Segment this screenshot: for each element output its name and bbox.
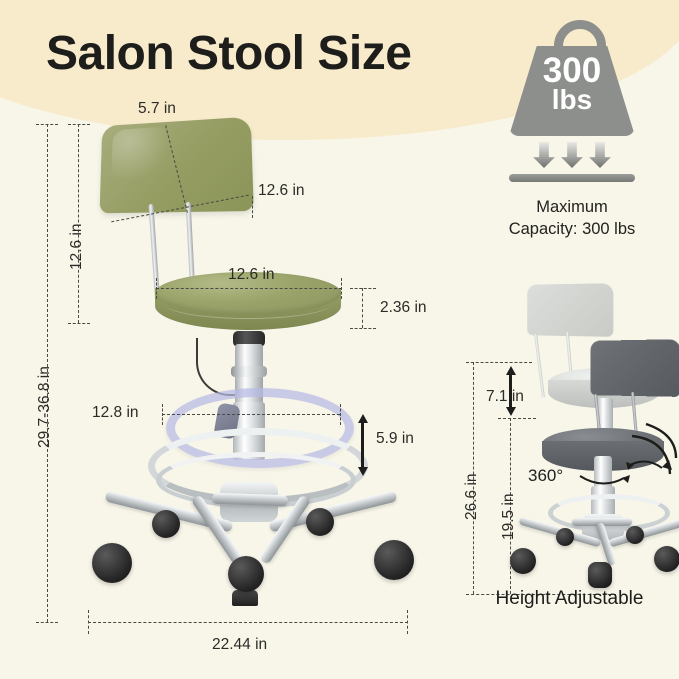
tick-base-right <box>407 610 408 634</box>
gray-caster-right <box>654 546 679 572</box>
gray-backrest-raised <box>527 283 613 337</box>
arrow-footring-height <box>357 414 368 476</box>
label-seat-diameter: 12.6 in <box>228 266 275 284</box>
gas-cylinder-collar <box>231 366 267 377</box>
tick-overall-bottom <box>36 622 58 623</box>
label-backrest-width: 12.6 in <box>258 182 305 200</box>
caster-back-right <box>306 508 334 536</box>
weight-caption-line1: Maximum <box>483 196 661 218</box>
tick-seat-right <box>341 278 342 299</box>
gray-backrest-lowered <box>590 339 679 397</box>
tick-seat-left <box>156 278 157 299</box>
label-gray-adjust-range: 7.1 in <box>486 388 524 406</box>
tick-thickness-bottom <box>350 328 376 329</box>
tick-thickness-top <box>350 288 376 289</box>
label-base-width: 22.44 in <box>212 636 267 654</box>
label-backrest-height: 12.6 in <box>68 223 86 270</box>
label-gray-total-height: 26.6 in <box>463 473 481 520</box>
caster-left <box>92 543 132 583</box>
gray-post-raised-left <box>534 334 545 398</box>
dimline-seat-diameter <box>156 288 342 289</box>
dimline-footring-diameter <box>162 414 340 415</box>
tick-backrest-width-end <box>252 196 253 218</box>
label-footring-height: 5.9 in <box>376 430 414 448</box>
rotation-label: 360° <box>528 466 563 486</box>
height-adjustable-caption: Height Adjustable <box>460 588 679 610</box>
ground-bar <box>509 174 635 182</box>
weight-icon-text: 300 lbs <box>497 54 647 114</box>
caster-front <box>228 556 264 592</box>
down-arrow-icon-3 <box>589 142 611 168</box>
seat-stitching <box>164 288 332 319</box>
tick-overall-top <box>36 124 58 125</box>
label-backrest-top-width: 5.7 in <box>138 100 176 118</box>
tick-footring-right <box>340 404 341 425</box>
weight-caption-line2: Capacity: 300 lbs <box>483 218 661 240</box>
label-seat-thickness: 2.36 in <box>380 299 427 317</box>
dimline-seat-thickness <box>362 288 363 328</box>
tick-gray-lowest-top <box>498 418 536 419</box>
weight-capacity-badge: 300 lbs Maximum Capacity: 300 lbs <box>497 18 647 228</box>
gray-caster-back-right <box>626 526 644 544</box>
tick-gray-total-top <box>466 362 532 363</box>
label-overall-height: 29.7-36.8 in <box>36 366 54 448</box>
tick-footring-left <box>162 404 163 425</box>
rotation-arrows-icon <box>576 418 679 508</box>
caster-front-center <box>232 590 258 606</box>
dimline-base-width <box>88 622 408 623</box>
down-arrow-icon-1 <box>533 142 555 168</box>
weight-unit: lbs <box>497 87 647 114</box>
label-footring-diameter: 12.8 in <box>92 404 139 422</box>
tick-backrest-top <box>68 124 90 125</box>
gray-caster-left <box>510 548 536 574</box>
gray-caster-back-left <box>556 528 574 546</box>
weight-value: 300 <box>497 54 647 87</box>
infographic-canvas: Salon Stool Size <box>0 0 679 679</box>
tick-base-left <box>88 610 89 634</box>
down-arrow-icon-2 <box>561 142 583 168</box>
label-gray-lowest-height: 19.5 in <box>500 493 518 540</box>
page-title: Salon Stool Size <box>46 26 411 81</box>
tick-backrest-bottom <box>68 323 90 324</box>
caster-right <box>374 540 414 580</box>
gray-caster-front <box>588 562 612 588</box>
caster-back-left <box>152 510 180 538</box>
weight-capacity-caption: Maximum Capacity: 300 lbs <box>483 196 661 241</box>
